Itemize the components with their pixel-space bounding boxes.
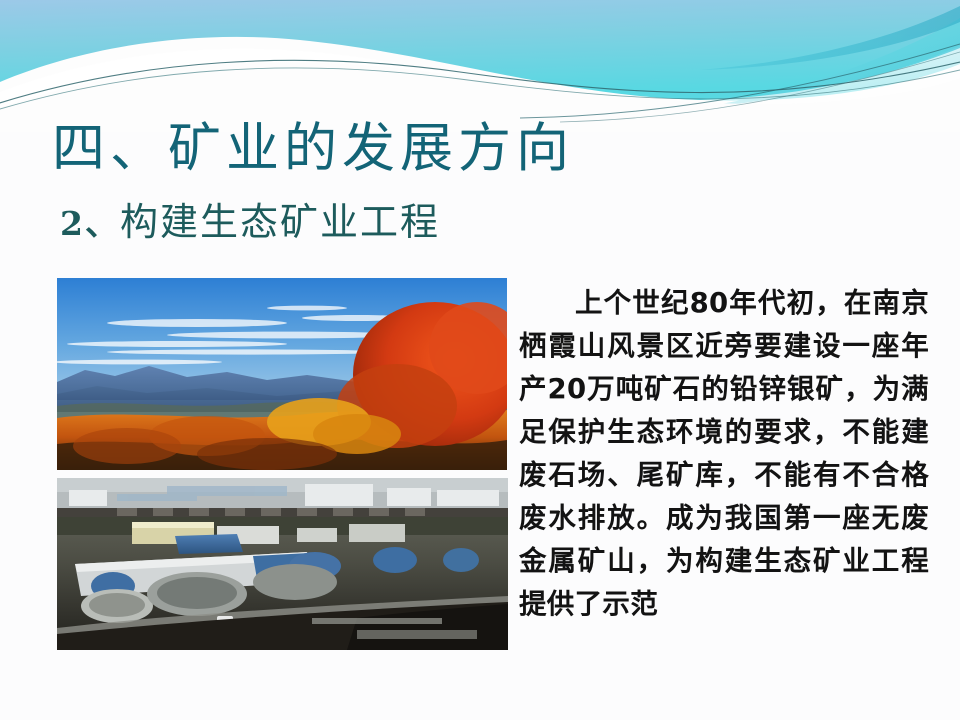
- section-subtitle-number: 2、: [60, 204, 120, 243]
- slide-canvas: 四、矿业的发展方向 2、构建生态矿业工程: [0, 0, 960, 720]
- page-title: 四、矿业的发展方向: [52, 122, 574, 175]
- body-paragraph: 上个世纪80年代初，在南京栖霞山风景区近旁要建设一座年产20万吨矿石的铅锌银矿，…: [519, 282, 929, 626]
- photo-aerial-mining-plant: [57, 478, 508, 650]
- section-subtitle: 2、构建生态矿业工程: [60, 203, 440, 241]
- header-decorative-band: [0, 0, 960, 132]
- photo-autumn-mountain-landscape: [57, 278, 507, 470]
- section-subtitle-text: 构建生态矿业工程: [120, 200, 440, 244]
